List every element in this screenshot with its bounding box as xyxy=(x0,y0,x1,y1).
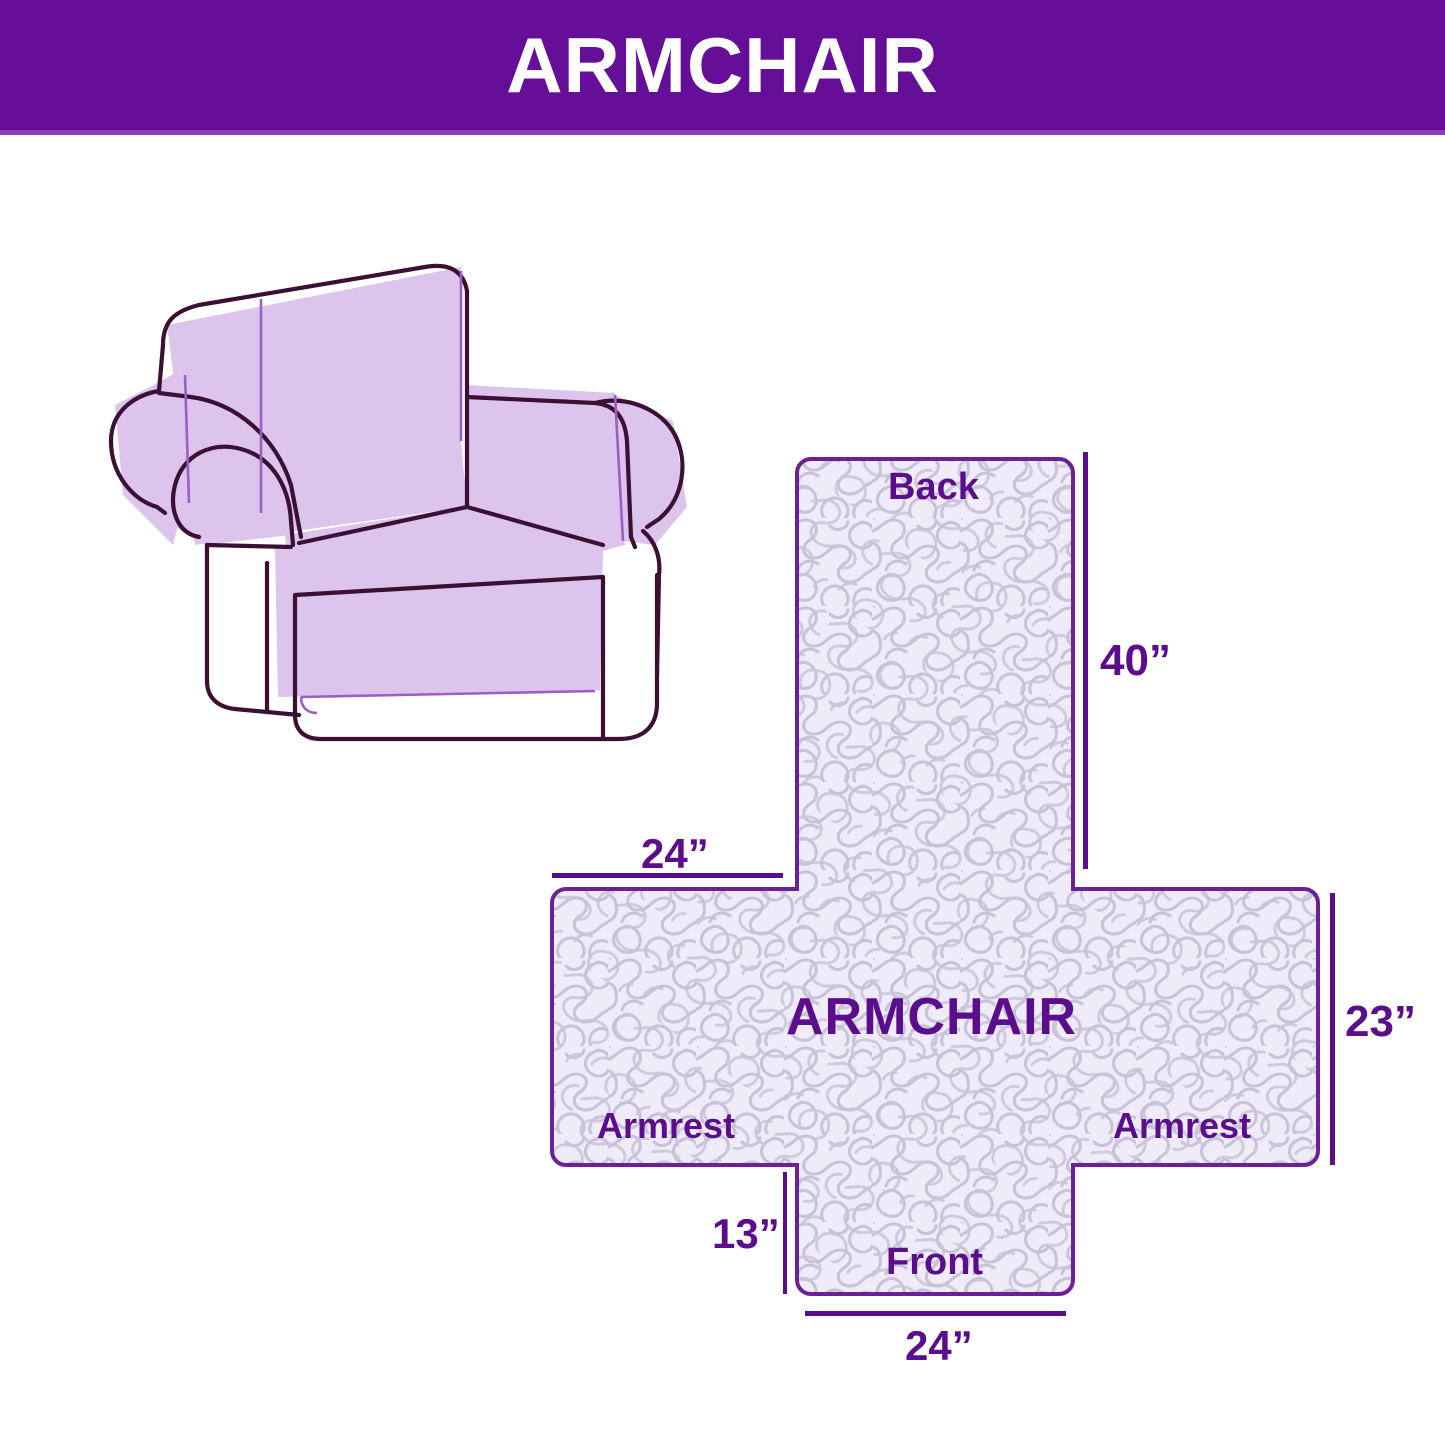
dimension-label-armrest-width: 24” xyxy=(641,833,709,875)
dimension-label-front-width: 24” xyxy=(905,1325,973,1367)
panel-label-front: Front xyxy=(886,1243,983,1281)
page-title: ARMCHAIR xyxy=(0,0,1445,130)
panel-label-armrest-right: Armrest xyxy=(1113,1108,1251,1144)
dimension-line-front-height xyxy=(783,1172,787,1294)
header-underline-divider xyxy=(0,130,1445,135)
slipcover-cross-diagram xyxy=(520,430,1420,1350)
dimension-label-back-height: 40” xyxy=(1100,639,1171,683)
panel-label-back: Back xyxy=(888,468,979,506)
dimension-line-center-height xyxy=(1330,893,1335,1165)
dimension-label-front-height: 13” xyxy=(712,1213,780,1255)
panel-label-center: ARMCHAIR xyxy=(786,991,1077,1043)
dimension-line-back-height xyxy=(1083,452,1088,869)
panel-label-armrest-left: Armrest xyxy=(597,1108,735,1144)
dimension-line-front-width xyxy=(805,1311,1066,1316)
dimension-label-center-height: 23” xyxy=(1345,1000,1416,1044)
cross-fabric-body xyxy=(520,430,1420,1350)
